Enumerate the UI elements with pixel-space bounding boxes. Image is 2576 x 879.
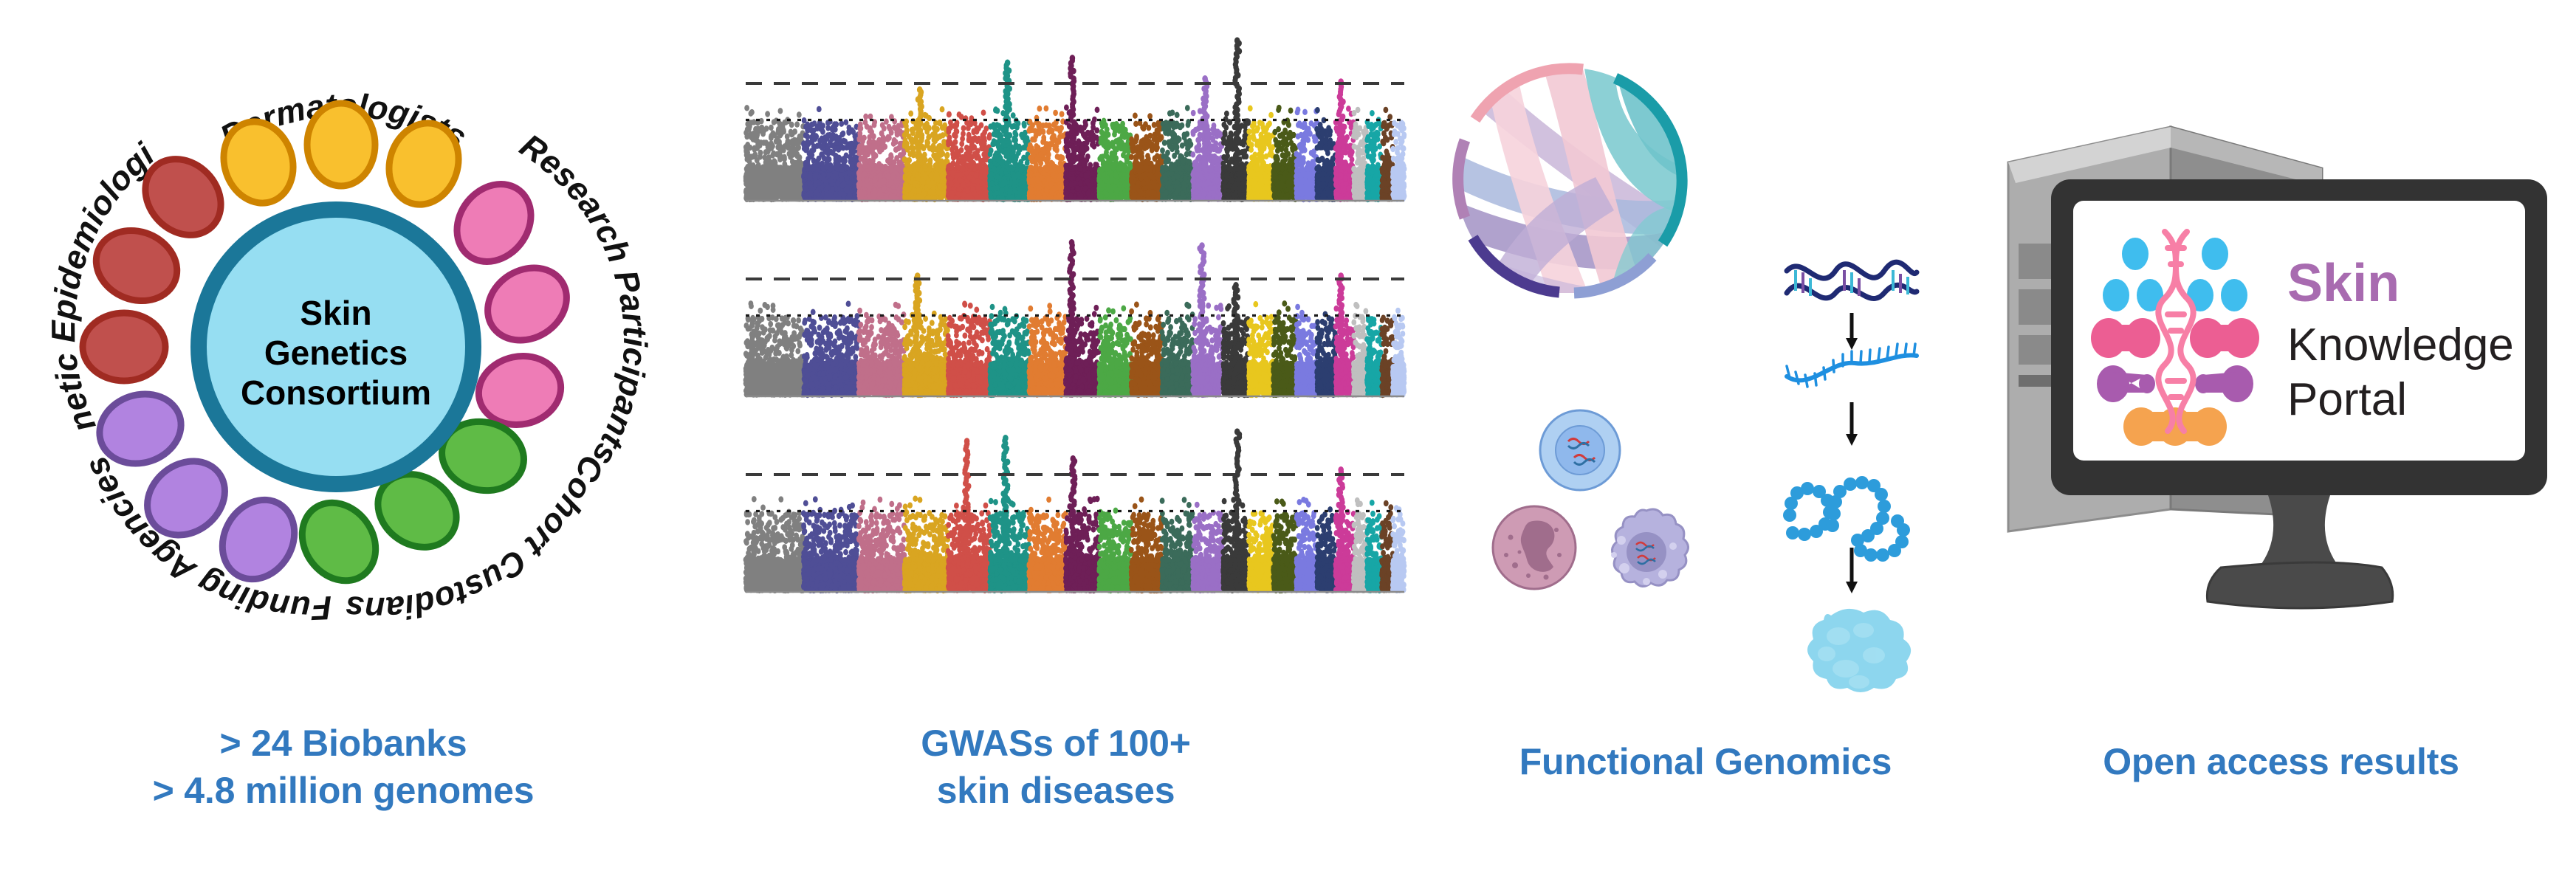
caption-consortium: > 24 Biobanks > 4.8 million genomes — [0, 720, 687, 814]
panel-functional-genomics: Functional Genomics — [1425, 0, 1986, 879]
chromosome-block-1 — [743, 105, 806, 202]
chromosome-block-14 — [1246, 510, 1276, 593]
consortium-wheel-svg: Dermatologists Research Participants Coh… — [0, 0, 687, 716]
chromosome-block-12 — [1190, 242, 1225, 398]
tower-bay-1 — [2019, 244, 2053, 279]
lymphocyte-cell — [1540, 410, 1620, 490]
chromosome-block-9 — [1097, 306, 1134, 399]
dot-research-participant-2 — [474, 253, 580, 354]
caption-gwas-line-1: GWASs of 100+ — [687, 720, 1425, 767]
chromosome-block-7 — [1027, 303, 1068, 398]
central-dogma — [1783, 262, 1917, 692]
lymphocyte-nucleus — [1556, 426, 1604, 475]
chromosome-block-4 — [902, 272, 951, 398]
chromosome-block-6 — [988, 304, 1032, 399]
caption-functional-genomics: Functional Genomics — [1425, 738, 1986, 785]
neutrophil-cell — [1493, 506, 1576, 589]
caption-consortium-line-1: > 24 Biobanks — [0, 720, 687, 767]
chromosome-block-10 — [1129, 113, 1164, 203]
caption-gwas-line-2: skin diseases — [687, 767, 1425, 814]
logo-orange-shapes — [2123, 407, 2227, 446]
panel-portal: Skin Knowledge Portal Open access result… — [1986, 0, 2576, 879]
chromosome-block-13 — [1220, 37, 1251, 202]
monitor-base — [2207, 562, 2392, 608]
chromosome-block-5 — [946, 110, 992, 203]
chromosome-block-4 — [902, 86, 951, 202]
macrophage-cell — [1611, 509, 1689, 587]
portal-art: Skin Knowledge Portal — [1986, 0, 2576, 716]
polypeptide-chain — [1783, 476, 1910, 562]
chromosome-block-9 — [1096, 508, 1133, 594]
functional-genomics-svg — [1425, 0, 1986, 716]
cell-cluster — [1493, 410, 1689, 589]
functional-genomics-art — [1425, 0, 1986, 716]
graphical-abstract: Dermatologists Research Participants Coh… — [0, 0, 2576, 879]
tower-bay-3 — [2019, 335, 2053, 365]
panel-gwas: GWASs of 100+ skin diseases — [687, 0, 1425, 879]
logo-title: Skin — [2287, 254, 2400, 313]
caption-portal: Open access results — [1986, 738, 2576, 785]
manhattan-plots-art — [687, 0, 1425, 716]
dot-genetic-epidemiologist-1 — [83, 313, 165, 381]
hub-line-2: Genetics — [264, 334, 408, 372]
chromosome-block-1 — [743, 496, 806, 593]
chromosome-block-5 — [946, 438, 992, 593]
chromosome-block-11 — [1160, 497, 1196, 593]
chromosome-block-13 — [1220, 428, 1251, 593]
chord-diagram — [1457, 69, 1682, 293]
caption-funcgen-line-1: Functional Genomics — [1425, 738, 1986, 785]
logo-subtitle-line-1: Knowledge — [2287, 320, 2514, 370]
hub-line-3: Consortium — [241, 373, 431, 412]
chromosome-block-12 — [1190, 502, 1226, 593]
chromosome-block-6 — [987, 435, 1031, 593]
folded-protein — [1807, 609, 1911, 692]
tower-bay-2 — [2019, 289, 2053, 325]
manhattan-plot-3 — [743, 428, 1407, 593]
manhattan-plot-2 — [743, 239, 1407, 398]
caption-gwas: GWASs of 100+ skin diseases — [687, 720, 1425, 814]
chromosome-block-9 — [1096, 118, 1133, 202]
chromosome-block-22 — [1390, 505, 1407, 593]
hub-line-1: Skin — [300, 294, 371, 332]
caption-consortium-line-2: > 4.8 million genomes — [0, 767, 687, 814]
consortium-wheel-art: Dermatologists Research Participants Coh… — [0, 0, 687, 716]
chromosome-block-14 — [1246, 301, 1276, 398]
chromosome-block-6 — [987, 60, 1031, 203]
caption-portal-line-1: Open access results — [1986, 738, 2576, 785]
panel-consortium: Dermatologists Research Participants Coh… — [0, 0, 687, 879]
chromosome-block-1 — [743, 300, 806, 398]
macrophage-nucleus — [1627, 532, 1666, 572]
dot-research-participant-1 — [442, 170, 546, 277]
dot-dermatologist-2 — [307, 103, 375, 186]
arrow-rna-to-peptide — [1846, 402, 1858, 446]
rna-bases — [1787, 344, 1915, 387]
dna-double-helix — [1787, 262, 1917, 298]
manhattan-plot-1 — [743, 37, 1407, 202]
chromosome-block-8 — [1063, 55, 1102, 202]
arrow-dna-to-rna — [1846, 313, 1858, 350]
portal-svg: Skin Knowledge Portal — [1986, 0, 2576, 716]
chromosome-block-12 — [1190, 75, 1226, 202]
messenger-rna — [1787, 344, 1917, 387]
manhattan-plots-svg — [687, 0, 1425, 716]
tower-slot — [2019, 375, 2053, 387]
chromosome-block-11 — [1160, 302, 1196, 398]
chromosome-block-8 — [1063, 239, 1102, 398]
chromosome-block-22 — [1390, 120, 1407, 202]
chromosome-block-3 — [856, 114, 907, 202]
chromosome-block-11 — [1160, 105, 1196, 202]
logo-subtitle-line-2: Portal — [2287, 374, 2407, 425]
